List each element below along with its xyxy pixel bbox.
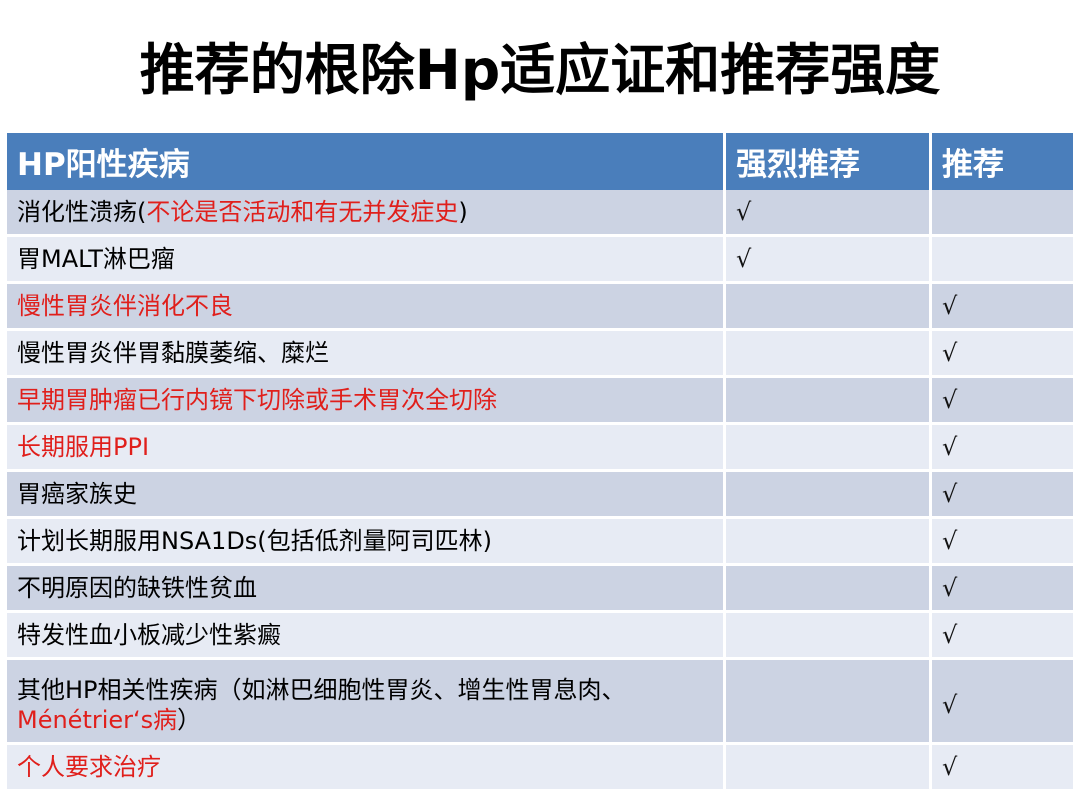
checkmark-icon: √: [942, 527, 957, 555]
text-run-black: 其他HP相关性疾病（如淋巴细胞性胃炎、增生性胃息肉、: [17, 676, 626, 704]
disease-text: 消化性溃疡(不论是否活动和有无并发症史): [17, 197, 723, 227]
disease-text: 慢性胃炎伴胃黏膜萎缩、糜烂: [17, 338, 723, 368]
disease-text: 特发性血小板减少性紫癜: [17, 620, 723, 650]
text-run-black: 胃癌家族史: [17, 480, 137, 508]
disease-text: 其他HP相关性疾病（如淋巴细胞性胃炎、增生性胃息肉、Ménétrier‘s病）: [17, 675, 723, 735]
checkmark-icon: √: [942, 621, 957, 649]
cell-strong-recommend: √: [726, 237, 932, 284]
text-run-red: 个人要求治疗: [17, 753, 161, 781]
cell-disease: 个人要求治疗: [7, 745, 726, 792]
disease-text: 胃癌家族史: [17, 479, 723, 509]
cell-recommend: √: [932, 519, 1073, 566]
cell-disease: 消化性溃疡(不论是否活动和有无并发症史): [7, 190, 726, 237]
text-run-black: 特发性血小板减少性紫癜: [17, 621, 281, 649]
checkmark-icon: √: [942, 574, 957, 602]
cell-strong-recommend: [726, 472, 932, 519]
table-header: HP阳性疾病 强烈推荐 推荐: [7, 133, 1073, 190]
cell-disease: 长期服用PPI: [7, 425, 726, 472]
text-run-red: 长期服用PPI: [17, 433, 149, 461]
table-row: 其他HP相关性疾病（如淋巴细胞性胃炎、增生性胃息肉、Ménétrier‘s病）√: [7, 660, 1073, 745]
text-run-black: 计划长期服用NSA1Ds(包括低剂量阿司匹林): [17, 527, 492, 555]
cell-strong-recommend: [726, 745, 932, 792]
cell-disease: 其他HP相关性疾病（如淋巴细胞性胃炎、增生性胃息肉、Ménétrier‘s病）: [7, 660, 726, 745]
table-row: 不明原因的缺铁性贫血√: [7, 566, 1073, 613]
cell-recommend: √: [932, 378, 1073, 425]
checkmark-icon: √: [942, 292, 957, 320]
table-body: 消化性溃疡(不论是否活动和有无并发症史)√胃MALT淋巴瘤√慢性胃炎伴消化不良√…: [7, 190, 1073, 792]
cell-recommend: √: [932, 745, 1073, 792]
checkmark-icon: √: [736, 245, 751, 273]
column-header-strong: 强烈推荐: [726, 133, 932, 190]
cell-disease: 慢性胃炎伴胃黏膜萎缩、糜烂: [7, 331, 726, 378]
table-row: 慢性胃炎伴胃黏膜萎缩、糜烂√: [7, 331, 1073, 378]
cell-recommend: √: [932, 613, 1073, 660]
cell-disease: 计划长期服用NSA1Ds(包括低剂量阿司匹林): [7, 519, 726, 566]
text-run-red: Ménétrier‘s病: [17, 706, 177, 734]
cell-disease: 慢性胃炎伴消化不良: [7, 284, 726, 331]
text-run-red: 慢性胃炎伴消化不良: [17, 292, 233, 320]
cell-recommend: √: [932, 472, 1073, 519]
cell-recommend: √: [932, 331, 1073, 378]
page-title: 推荐的根除Hp适应证和推荐强度: [0, 38, 1080, 102]
cell-recommend: √: [932, 284, 1073, 331]
table-row: 特发性血小板减少性紫癜√: [7, 613, 1073, 660]
table-row: 消化性溃疡(不论是否活动和有无并发症史)√: [7, 190, 1073, 237]
disease-text: 长期服用PPI: [17, 432, 723, 462]
cell-disease: 胃癌家族史: [7, 472, 726, 519]
cell-strong-recommend: [726, 613, 932, 660]
cell-strong-recommend: [726, 519, 932, 566]
text-run-black: 慢性胃炎伴胃黏膜萎缩、糜烂: [17, 339, 329, 367]
checkmark-icon: √: [942, 433, 957, 461]
disease-text: 不明原因的缺铁性贫血: [17, 573, 723, 603]
cell-strong-recommend: [726, 425, 932, 472]
table-row: 慢性胃炎伴消化不良√: [7, 284, 1073, 331]
disease-text: 早期胃肿瘤已行内镜下切除或手术胃次全切除: [17, 385, 723, 415]
table-row: 胃MALT淋巴瘤√: [7, 237, 1073, 284]
checkmark-icon: √: [736, 198, 751, 226]
table-row: 长期服用PPI√: [7, 425, 1073, 472]
table-header-row: HP阳性疾病 强烈推荐 推荐: [7, 133, 1073, 190]
text-run-black: 胃MALT淋巴瘤: [17, 245, 175, 273]
disease-text: 慢性胃炎伴消化不良: [17, 291, 723, 321]
cell-recommend: √: [932, 660, 1073, 745]
cell-strong-recommend: [726, 331, 932, 378]
text-run-red: 不论是否活动和有无并发症史: [146, 198, 458, 226]
cell-recommend: √: [932, 566, 1073, 613]
table-row: 计划长期服用NSA1Ds(包括低剂量阿司匹林)√: [7, 519, 1073, 566]
text-run-black: 不明原因的缺铁性贫血: [17, 574, 257, 602]
table-row: 胃癌家族史√: [7, 472, 1073, 519]
disease-text: 胃MALT淋巴瘤: [17, 244, 723, 274]
cell-recommend: [932, 237, 1073, 284]
text-run-red: 早期胃肿瘤已行内镜下切除或手术胃次全切除: [17, 386, 497, 414]
cell-recommend: √: [932, 425, 1073, 472]
checkmark-icon: √: [942, 386, 957, 414]
cell-disease: 胃MALT淋巴瘤: [7, 237, 726, 284]
cell-strong-recommend: [726, 660, 932, 745]
cell-strong-recommend: [726, 378, 932, 425]
table-row: 早期胃肿瘤已行内镜下切除或手术胃次全切除√: [7, 378, 1073, 425]
cell-disease: 早期胃肿瘤已行内镜下切除或手术胃次全切除: [7, 378, 726, 425]
checkmark-icon: √: [942, 339, 957, 367]
recommendation-table: HP阳性疾病 强烈推荐 推荐 消化性溃疡(不论是否活动和有无并发症史)√胃MAL…: [7, 133, 1073, 792]
slide-root: 推荐的根除Hp适应证和推荐强度 HP阳性疾病 强烈推荐 推荐 消化性溃疡(不论是…: [0, 0, 1080, 810]
table-row: 个人要求治疗√: [7, 745, 1073, 792]
column-header-recommend: 推荐: [932, 133, 1073, 190]
cell-disease: 特发性血小板减少性紫癜: [7, 613, 726, 660]
column-header-disease: HP阳性疾病: [7, 133, 726, 190]
disease-text: 计划长期服用NSA1Ds(包括低剂量阿司匹林): [17, 526, 723, 556]
cell-strong-recommend: √: [726, 190, 932, 237]
cell-disease: 不明原因的缺铁性贫血: [7, 566, 726, 613]
checkmark-icon: √: [942, 480, 957, 508]
cell-strong-recommend: [726, 284, 932, 331]
text-run-black: 消化性溃疡(: [17, 198, 146, 226]
text-run-black: ）: [177, 706, 201, 734]
disease-text: 个人要求治疗: [17, 752, 723, 782]
cell-recommend: [932, 190, 1073, 237]
cell-strong-recommend: [726, 566, 932, 613]
text-run-black: ): [458, 198, 467, 226]
checkmark-icon: √: [942, 691, 957, 719]
checkmark-icon: √: [942, 753, 957, 781]
